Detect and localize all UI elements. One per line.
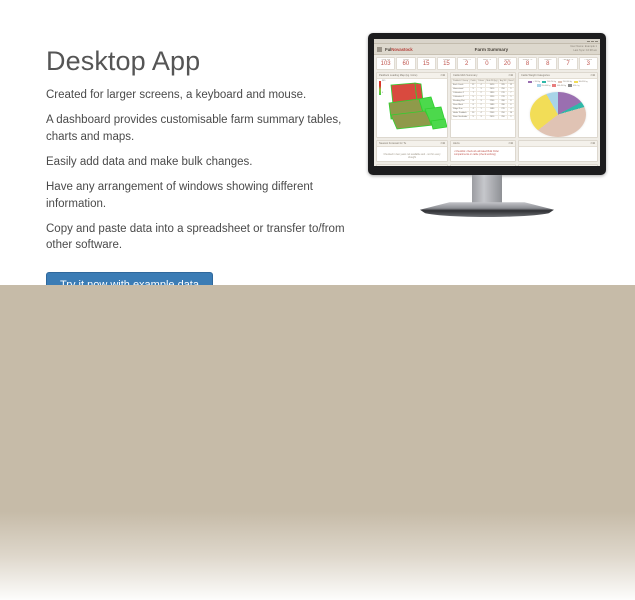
dashboard-column-left: Paddock Loading Map (kg / Acre) ⊡⊠ 345 0 <box>376 72 448 166</box>
table-cell: 3 <box>477 115 485 119</box>
panel-controls-icon[interactable]: ⊡⊠ <box>441 74 445 77</box>
app-brand[interactable]: FulNovastock <box>385 47 413 52</box>
legend-item[interactable]: 450+ kg <box>568 84 579 87</box>
panel-controls-icon[interactable]: ⊡⊠ <box>509 142 513 145</box>
stat-value: 8 <box>539 61 556 68</box>
dashboard-column-right: Cattle Weight Categories ⊡⊠ < 200 kg 200… <box>518 72 598 166</box>
stat-card[interactable]: Cattle 60 <box>396 57 415 71</box>
stat-card[interactable]: Bulls >1 0 <box>477 57 496 71</box>
stat-value: 15 <box>418 61 435 68</box>
hamburger-icon[interactable] <box>377 47 382 52</box>
desktop-monitor-mockup: FulNovastock Farm Summary User Name: Exa… <box>368 33 606 223</box>
map-legend-low: 0 <box>382 92 383 94</box>
panel-controls-icon[interactable]: ⊡⊠ <box>509 74 513 77</box>
table-cell: Steer Southside <box>452 115 470 119</box>
legend-label: 300-350 kg <box>579 81 588 83</box>
panel-header: ⊡⊠ <box>519 141 597 147</box>
cattle-mob-table: Paddock / Group Cattle Calves Mob Wt (kg… <box>451 79 515 120</box>
panel-title: Nearest Forecast for Tu <box>379 142 406 145</box>
desktop-copy-block: Desktop App Created for larger screens, … <box>46 46 358 300</box>
legend-item[interactable]: 350-400 kg <box>537 84 551 87</box>
legend-label: 200-250 kg <box>547 81 556 83</box>
table-cell: 9 <box>507 115 514 119</box>
app-page-title: Farm Summary <box>416 47 568 52</box>
stat-value: 2 <box>458 61 475 68</box>
table-cell: 9 <box>469 115 477 119</box>
stat-value: 8 <box>519 61 536 68</box>
panel-body: Paddock / Group Cattle Calves Mob Wt (kg… <box>451 79 515 137</box>
panel-header: Cattle Sales Wt Results ⊡⊠ <box>451 165 515 166</box>
panel-cattle-mob-summary[interactable]: Cattle Mob Summary ⊡⊠ Paddock / Group <box>450 72 516 138</box>
map-polygons <box>377 79 447 137</box>
app-navbar: FulNovastock Farm Summary User Name: Exa… <box>374 44 600 55</box>
stat-card[interactable]: Heifers <1 7 <box>558 57 577 71</box>
desktop-app-section: Desktop App Created for larger screens, … <box>0 0 635 285</box>
app-user-info: User Name: Example 1 Last Sync: 10:38 am <box>570 45 597 53</box>
desktop-heading: Desktop App <box>46 46 358 77</box>
panel-title: Cattle Mob Summary <box>453 74 477 77</box>
app-stat-row: Total Stk 103 Cattle 60 Cows 15 Calves <box>374 55 600 72</box>
map-legend-gradient <box>379 81 381 95</box>
stat-card[interactable]: Cows 15 <box>417 57 436 71</box>
legend-item[interactable]: 250-300 kg <box>558 81 572 84</box>
window-maximize-icon[interactable] <box>591 41 594 42</box>
panel-title: Cattle Weight Categories <box>521 74 550 77</box>
panel-header: Cattle Price Returns and Water Per Paddo… <box>519 165 597 166</box>
desktop-paragraph-5: Copy and paste data into a spreadsheet o… <box>46 221 358 254</box>
monitor-screen: FulNovastock Farm Summary User Name: Exa… <box>374 39 600 166</box>
desktop-paragraph-4: Have any arrangement of windows showing … <box>46 179 358 212</box>
stat-card[interactable]: Heifers 8 <box>538 57 557 71</box>
stat-card[interactable]: Total Stk 103 <box>376 57 395 71</box>
panel-header: Cattle Live Wt Average Weight Gain Per P… <box>377 165 447 166</box>
table-cell: 2610 <box>485 115 498 119</box>
legend-item[interactable]: < 200 kg <box>528 81 540 84</box>
panel-price-returns-grid[interactable]: Cattle Price Returns and Water Per Paddo… <box>518 164 598 166</box>
map-legend-high: 345 <box>382 80 385 82</box>
pie-legend: < 200 kg 200-250 kg 250-300 kg 300-350 k… <box>519 79 597 89</box>
legend-label: 350-400 kg <box>541 85 550 87</box>
stat-card[interactable]: Steers <1 8 <box>518 57 537 71</box>
dashboard-column-middle: Cattle Mob Summary ⊡⊠ Paddock / Group <box>450 72 516 166</box>
stat-card[interactable]: Calves 15 <box>437 57 456 71</box>
panel-title: Alerts <box>453 142 460 145</box>
app-last-sync: Last Sync: 10:38 am <box>570 49 597 53</box>
stat-value: 15 <box>438 61 455 68</box>
monitor-base <box>420 201 554 217</box>
stat-value: 20 <box>499 61 516 68</box>
stat-value: 60 <box>397 61 414 68</box>
mobile-app-section: Farm Summary Cattle Summary Total Cattle… <box>0 285 635 600</box>
weather-note: Checked in two years not available and -… <box>377 147 447 162</box>
panel-controls-icon[interactable]: ⊡⊠ <box>591 142 595 145</box>
panel-alerts[interactable]: Alerts ⊡⊠ • Checklist: check all estimat… <box>450 140 516 162</box>
legend-item[interactable]: 400-450 kg <box>552 84 566 87</box>
table-row[interactable]: Steer Southside 9 3 2610 290 9 <box>452 115 515 119</box>
legend-label: 250-300 kg <box>563 81 572 83</box>
panel-spacer-right: ⊡⊠ <box>518 140 598 162</box>
paddock-map: 345 0 <box>377 79 447 137</box>
panel-sales-chart[interactable]: Cattle Sales Wt Results ⊡⊠ <box>450 164 516 166</box>
legend-item[interactable]: 200-250 kg <box>542 81 556 84</box>
desktop-paragraph-3: Easily add data and make bulk changes. <box>46 154 358 170</box>
panel-controls-icon[interactable]: ⊡⊠ <box>441 142 445 145</box>
legend-label: 400-450 kg <box>557 85 566 87</box>
panel-weight-gain-chart[interactable]: Cattle Live Wt Average Weight Gain Per P… <box>376 164 448 166</box>
stat-value: 103 <box>377 61 394 68</box>
legend-item[interactable]: 300-350 kg <box>574 81 588 84</box>
panel-controls-icon[interactable]: ⊡⊠ <box>591 74 595 77</box>
desktop-paragraph-2: A dashboard provides customisable farm s… <box>46 112 358 145</box>
window-minimize-icon[interactable] <box>587 41 590 42</box>
monitor-neck <box>472 175 502 205</box>
landing-page: Desktop App Created for larger screens, … <box>0 0 635 600</box>
panel-weather-forecast[interactable]: Nearest Forecast for Tu ⊡⊠ Checked in tw… <box>376 140 448 162</box>
app-brand-name: Novastock <box>391 47 412 52</box>
app-dashboard-grid: Paddock Loading Map (kg / Acre) ⊡⊠ 345 0 <box>374 72 600 166</box>
stat-card[interactable]: Horses 3 <box>579 57 598 71</box>
pie-chart <box>530 92 586 137</box>
panel-paddock-map[interactable]: Paddock Loading Map (kg / Acre) ⊡⊠ 345 0 <box>376 72 448 138</box>
stat-value: 3 <box>580 61 597 68</box>
panel-body: 345 0 <box>377 79 447 137</box>
stat-value: 0 <box>478 61 495 68</box>
panel-weight-categories-pie[interactable]: Cattle Weight Categories ⊡⊠ < 200 kg 200… <box>518 72 598 138</box>
legend-label: 450+ kg <box>573 85 579 87</box>
window-close-icon[interactable] <box>595 41 598 42</box>
legend-label: < 200 kg <box>533 81 540 83</box>
desktop-paragraph-1: Created for larger screens, a keyboard a… <box>46 87 358 103</box>
alert-text: • Checklist: check all estimated Bulk Or… <box>451 147 515 159</box>
stat-card[interactable]: Steers 20 <box>498 57 517 71</box>
panel-title: Paddock Loading Map (kg / Acre) <box>379 74 417 77</box>
table-body: Back Creek 12 4 3420 285 12 <box>452 83 515 119</box>
stat-value: 7 <box>559 61 576 68</box>
monitor-bezel: FulNovastock Farm Summary User Name: Exa… <box>368 33 606 175</box>
table-cell: 290 <box>499 115 508 119</box>
stat-card[interactable]: Calv <1 2 <box>457 57 476 71</box>
